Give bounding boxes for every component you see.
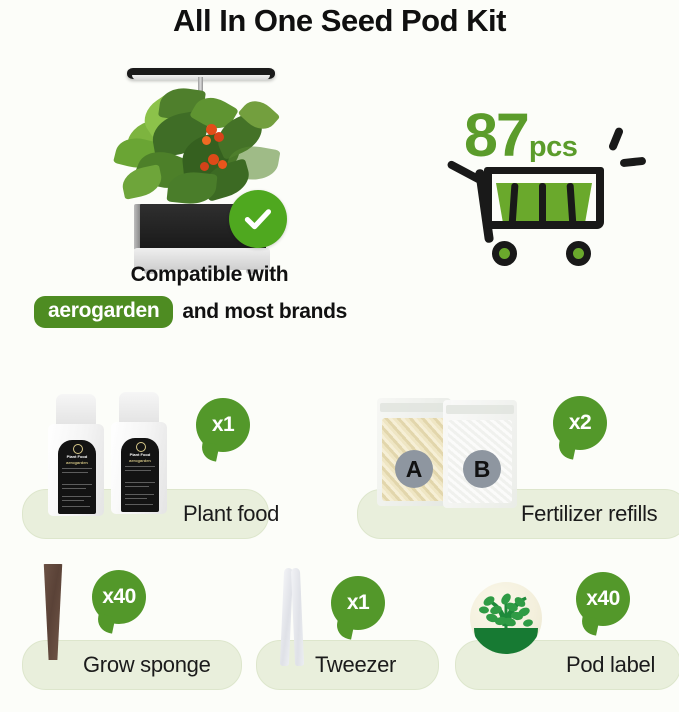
bottle-label-sub: aerogarden xyxy=(58,460,96,465)
bottle-cap xyxy=(56,394,96,428)
aerogarden-brand-badge: aerogarden xyxy=(34,296,173,328)
fertilizer-pouch-a: A xyxy=(377,398,451,506)
bottle-label-title: Plant Food xyxy=(121,452,159,457)
infographic-canvas: All In One Seed Pod Kit xyxy=(0,0,679,712)
pouch-letter-b: B xyxy=(463,450,501,488)
item-label-grow-sponge: Grow sponge xyxy=(83,652,211,678)
quantity-badge-pod-label: x40 xyxy=(576,572,630,626)
check-circle-icon xyxy=(229,190,287,248)
fertilizer-pouch-b: B xyxy=(443,400,517,508)
item-label-tweezer: Tweezer xyxy=(315,652,396,678)
item-label-pod-label: Pod label xyxy=(566,652,655,678)
pouch-zip xyxy=(380,403,448,412)
plant-food-bottle: Plant Food aerogarden xyxy=(48,394,104,516)
quantity-badge-fertilizer-refills: x2 xyxy=(553,396,607,450)
pod-label-image xyxy=(470,582,542,654)
bottle-cap xyxy=(119,392,159,426)
compatible-suffix-text: and most brands xyxy=(182,300,347,324)
sparkle-icon xyxy=(608,126,624,151)
bottle-label-title: Plant Food xyxy=(58,454,96,459)
item-label-fertilizer-refills: Fertilizer refills xyxy=(521,501,657,527)
cart-rib xyxy=(539,183,546,227)
quantity-badge-plant-food: x1 xyxy=(196,398,250,452)
brand-compat-row: aerogarden and most brands xyxy=(34,296,454,328)
bottle-label: Plant Food aerogarden xyxy=(58,440,96,514)
cart-wheel xyxy=(492,241,517,266)
bottle-label: Plant Food aerogarden xyxy=(121,438,159,512)
plant-food-bottle: Plant Food aerogarden xyxy=(111,392,167,514)
bottle-label-sub: aerogarden xyxy=(121,458,159,463)
quantity-badge-grow-sponge: x40 xyxy=(92,570,146,624)
pouch-zip xyxy=(446,405,514,414)
quantity-badge-tweezer: x1 xyxy=(331,576,385,630)
tweezer-image xyxy=(282,568,306,666)
page-title: All In One Seed Pod Kit xyxy=(0,3,679,39)
compatible-with-text: Compatible with xyxy=(0,263,419,287)
shopping-cart-icon xyxy=(444,157,629,275)
pouch-letter-a: A xyxy=(395,450,433,488)
hydroponic-garden-image xyxy=(108,62,294,257)
piece-count-graphic: 87 pcs xyxy=(444,105,659,275)
item-label-plant-food: Plant food xyxy=(183,501,279,527)
cart-wheel xyxy=(566,241,591,266)
brand-logo-icon xyxy=(73,444,83,454)
brand-logo-icon xyxy=(136,442,146,452)
